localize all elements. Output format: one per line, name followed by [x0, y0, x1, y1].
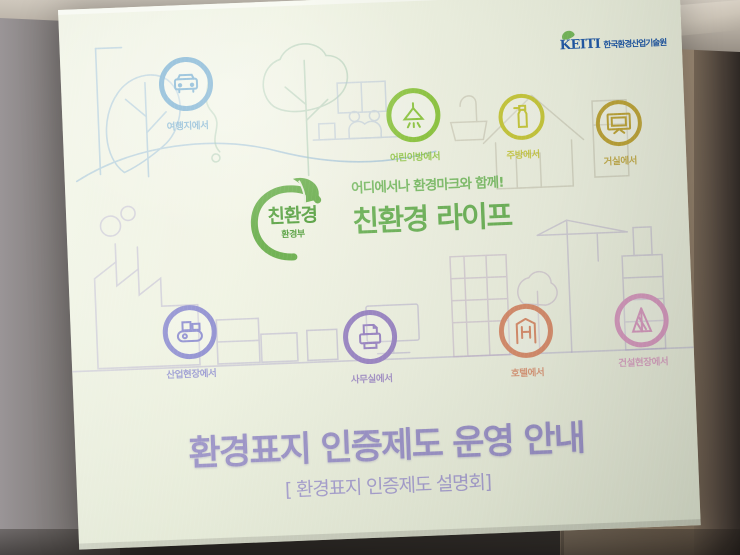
spray-bottle-icon	[498, 93, 546, 141]
projection-screen: KEITI 한국환경산업기술원 여행지에서 어린이방에서	[58, 0, 701, 550]
printer-icon	[342, 309, 398, 365]
badge-label: 여행지에서	[160, 117, 215, 133]
badge-label: 건설현장에서	[616, 353, 671, 369]
eco-mark: 친환경 환경부	[243, 169, 343, 265]
construction-icon	[614, 292, 670, 348]
badge-industrial: 산업현장에서	[162, 304, 219, 381]
right-wall-corner	[694, 0, 740, 555]
badge-livingroom: 거실에서	[595, 99, 644, 168]
badge-label: 산업현장에서	[164, 365, 219, 381]
badge-travel: 여행지에서	[158, 56, 215, 133]
badge-office: 사무실에서	[342, 309, 399, 386]
eco-label-logo-block: 친환경 환경부 어디에서나 환경마크와 함께! 친환경 라이프	[242, 158, 576, 269]
badge-kidsroom: 어린이방에서	[385, 87, 442, 164]
badge-label: 호텔에서	[500, 364, 555, 380]
badge-hotel: 호텔에서	[498, 303, 555, 380]
lamp-icon	[385, 87, 441, 143]
badge-label: 어린이방에서	[388, 148, 443, 164]
hotel-icon	[498, 303, 554, 359]
badge-kitchen: 주방에서	[498, 93, 547, 162]
keiti-korean-name: 한국환경산업기술원	[603, 36, 667, 51]
badge-label: 사무실에서	[344, 370, 399, 386]
slide-headline: 친환경 라이프	[352, 192, 513, 240]
monitor-icon	[595, 99, 643, 147]
badge-construction: 건설현장에서	[614, 292, 671, 369]
machinery-icon	[162, 304, 218, 360]
car-icon	[158, 56, 214, 112]
badge-label: 거실에서	[597, 152, 644, 168]
